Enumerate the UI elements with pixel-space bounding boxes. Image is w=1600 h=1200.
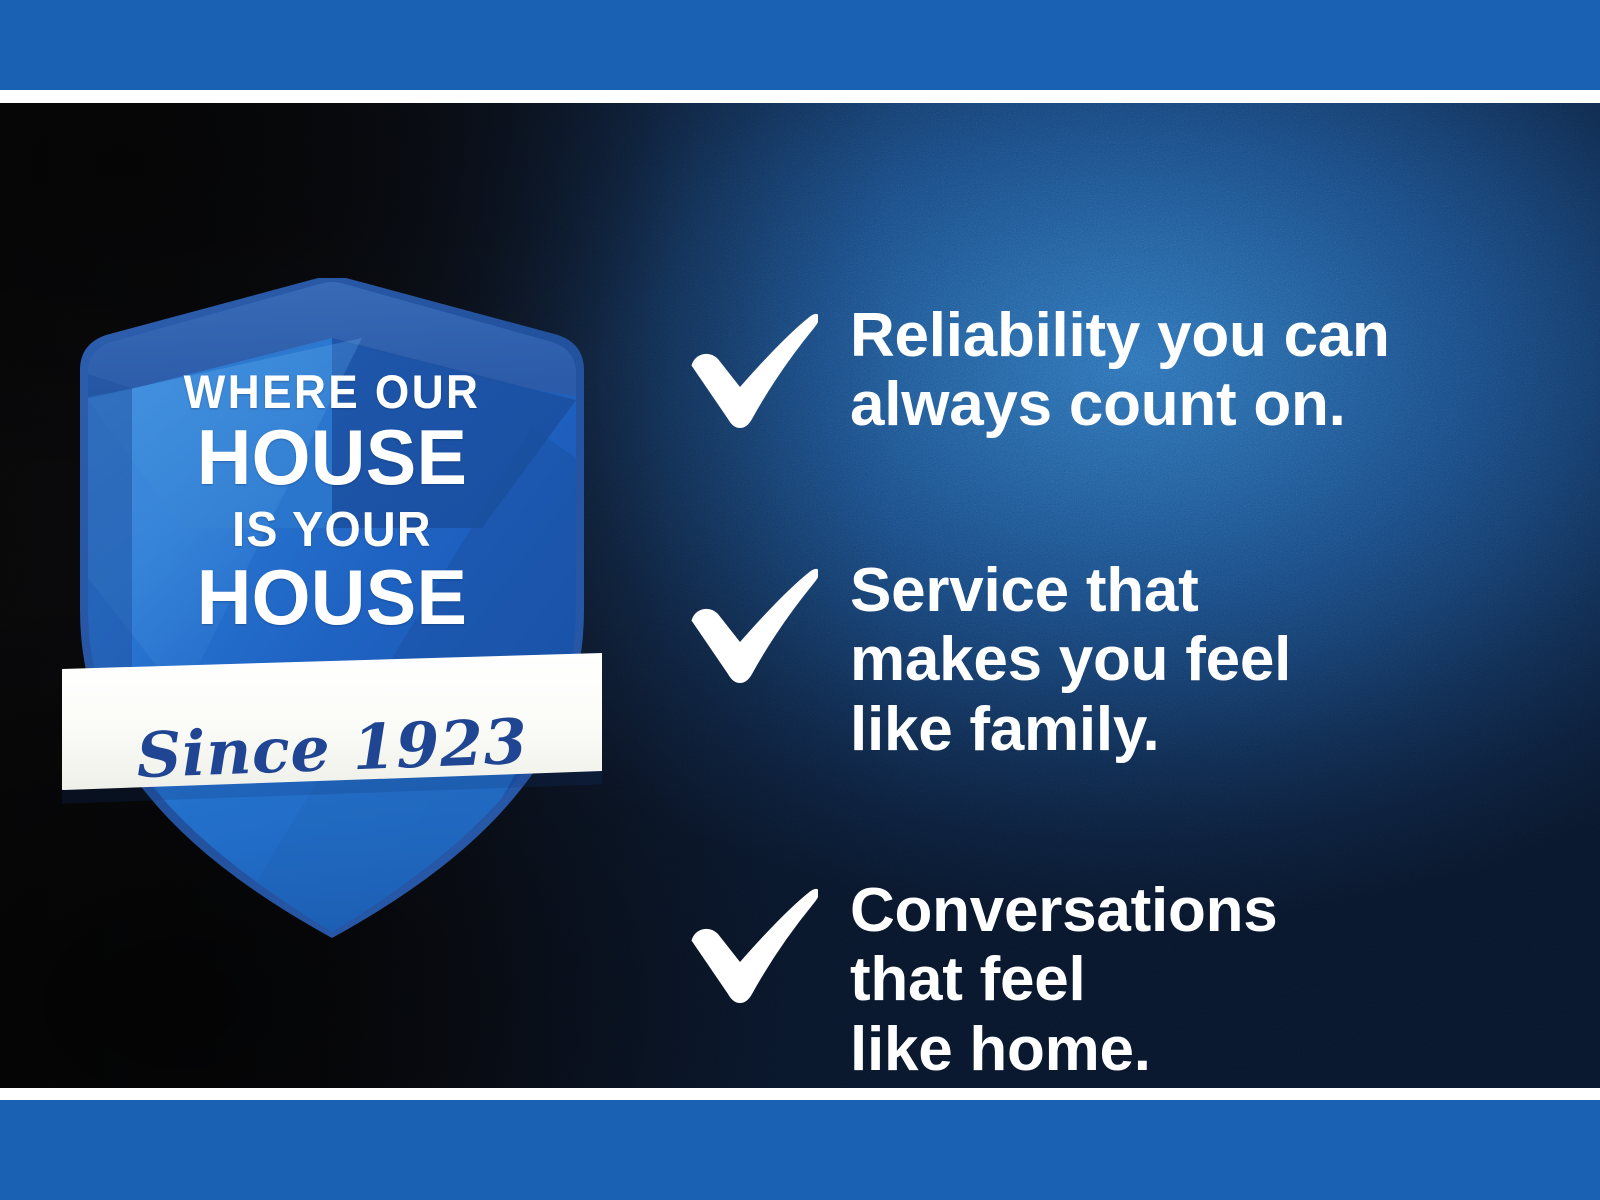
list-item-text: Reliability you can always count on. (850, 301, 1490, 440)
text-line: like home. (850, 1015, 1490, 1084)
text-line: Reliability you can (850, 301, 1490, 370)
text-line: makes you feel (850, 625, 1490, 694)
graphic-canvas: WHERE OUR HOUSE IS YOUR HOUSE Since 1923… (0, 0, 1600, 1200)
check-mark-icon (678, 309, 818, 429)
divider-bottom (0, 1088, 1600, 1100)
text-line: Conversations (850, 876, 1490, 945)
main-artwork-area: WHERE OUR HOUSE IS YOUR HOUSE Since 1923… (0, 103, 1600, 1088)
text-line: Service that (850, 556, 1490, 625)
brand-bar-bottom (0, 1100, 1600, 1200)
divider-top (0, 90, 1600, 103)
shield-badge: WHERE OUR HOUSE IS YOUR HOUSE Since 1923 (62, 278, 602, 938)
check-mark-icon (678, 564, 818, 684)
brand-bar-top (0, 0, 1600, 90)
benefits-list: Reliability you can always count on. Ser… (672, 206, 1502, 1088)
text-line: like family. (850, 695, 1490, 764)
shield-graphic (62, 278, 602, 938)
shield-ribbon (62, 653, 602, 804)
text-line: always count on. (850, 370, 1490, 439)
check-mark-icon (678, 884, 818, 1004)
list-item-text: Conversations that feel like home. (850, 876, 1490, 1084)
list-item-text: Service that makes you feel like family. (850, 556, 1490, 764)
text-line: that feel (850, 945, 1490, 1014)
